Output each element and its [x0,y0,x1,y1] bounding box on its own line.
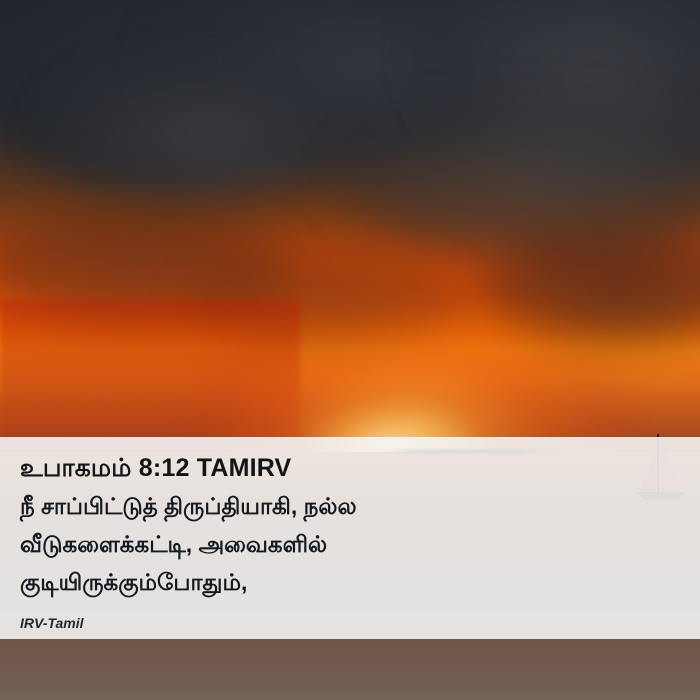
verse-line-2: வீடுகளைக்கட்டி, அவைகளில் [20,525,682,563]
verse-caption-panel: உபாகமம் 8:12 TAMIRV நீ சாப்பிட்டுத் திரு… [0,437,700,639]
verse-line-3: குடியிருக்கும்போதும், [20,563,682,601]
verse-text: நீ சாப்பிட்டுத் திருப்தியாகி, நல்ல வீடுக… [20,487,682,601]
verse-reference: உபாகமம் 8:12 TAMIRV [20,451,682,485]
verse-line-1: நீ சாப்பிட்டுத் திருப்தியாகி, நல்ல [20,487,682,525]
verse-image: உபாகமம் 8:12 TAMIRV நீ சாப்பிட்டுத் திரு… [0,0,700,700]
bible-version-label: IRV-Tamil [20,615,84,631]
storm-cloud [40,60,370,210]
